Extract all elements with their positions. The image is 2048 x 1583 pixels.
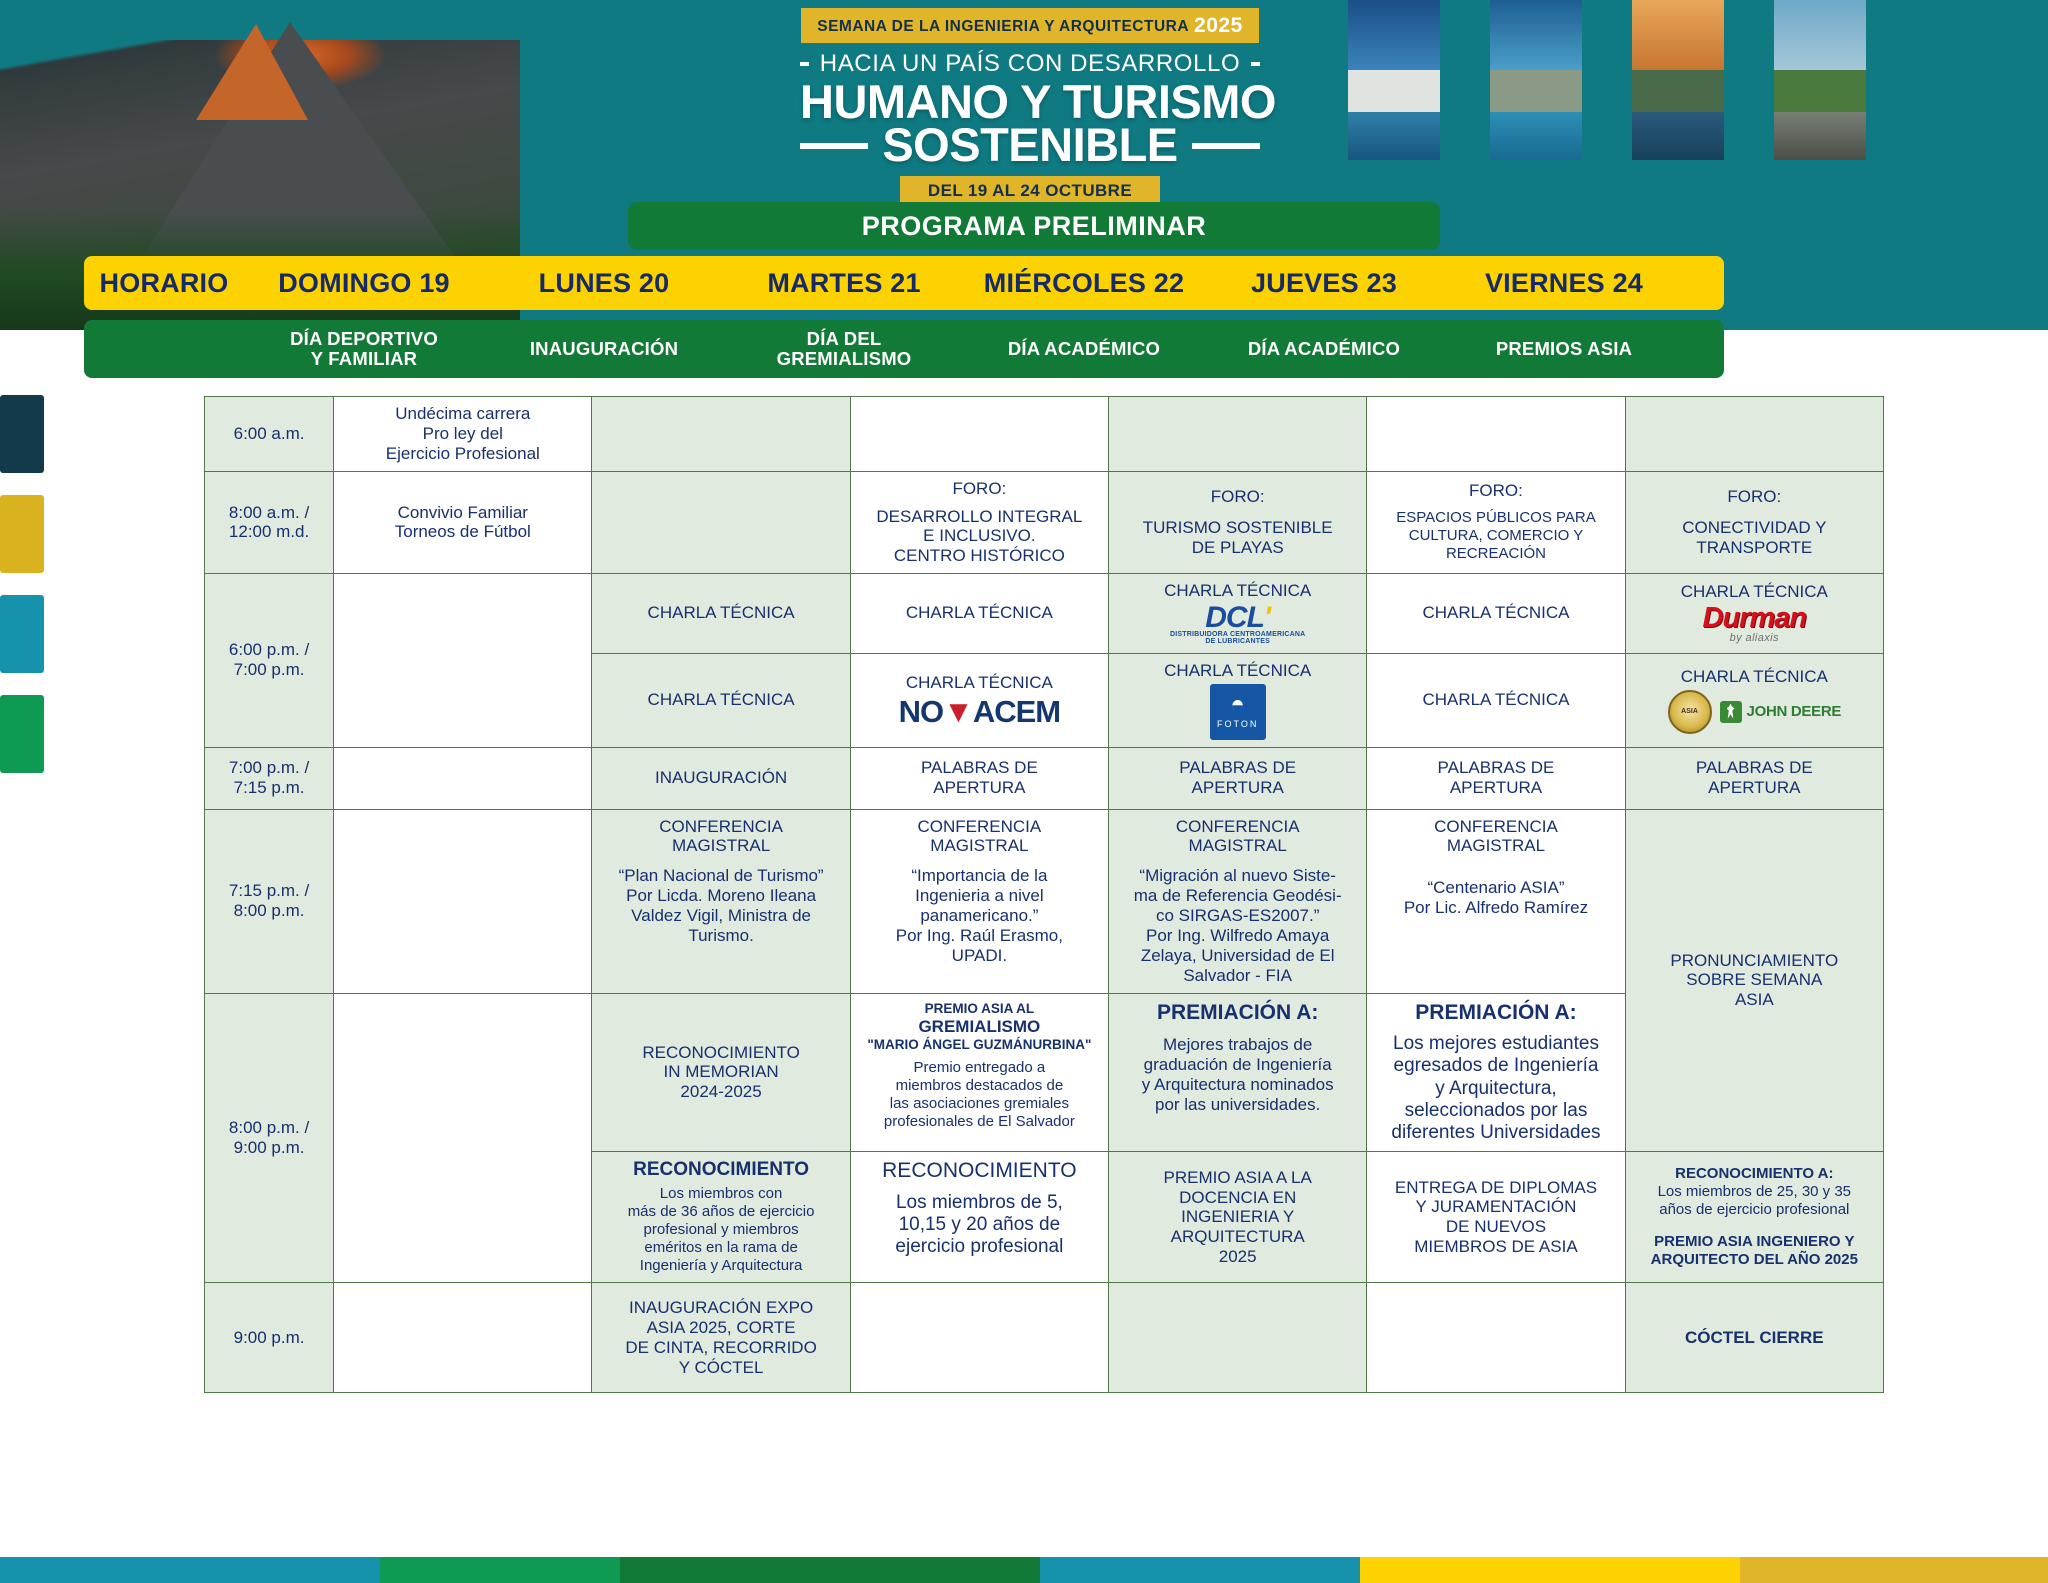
time-cell-8am: 8:00 a.m. / 12:00 m.d. xyxy=(205,471,334,574)
cell-jue-charla-1: CHARLA TÉCNICA xyxy=(1367,574,1625,654)
premiacion-head-jue: PREMIACIÓN A: xyxy=(1372,1001,1619,1026)
cell-mar-foro: FORO: DESARROLLO INTEGRAL E INCLUSIVO. C… xyxy=(850,471,1108,574)
table-row: 9:00 p.m. INAUGURACIÓN EXPO ASIA 2025, C… xyxy=(205,1283,1884,1393)
foro-lead-vie: FORO: xyxy=(1631,487,1878,507)
cell-lun-inauguracion: INAUGURACIÓN xyxy=(592,747,850,809)
cell-jue-entrega-diplomas: ENTREGA DE DIPLOMAS Y JURAMENTACIÓN DE N… xyxy=(1367,1152,1625,1283)
title-line-2-row: SOSTENIBLE xyxy=(800,123,1260,168)
time-cell-7pm: 7:00 p.m. / 7:15 p.m. xyxy=(205,747,334,809)
header-miercoles: MIÉRCOLES 22 xyxy=(964,268,1204,299)
john-deere-logo: JOHN DEERE xyxy=(1720,701,1842,723)
cell-jue-conferencia: CONFERENCIA MAGISTRAL “Centenario ASIA” … xyxy=(1367,809,1625,993)
cell-dom-empty-5 xyxy=(334,809,592,993)
cell-lun-charla-1: CHARLA TÉCNICA xyxy=(592,574,850,654)
charla-label-mar-2: CHARLA TÉCNICA xyxy=(856,673,1103,693)
foro-body-mie: TURISMO SOSTENIBLE DE PLAYAS xyxy=(1114,518,1361,558)
schedule-table: 6:00 a.m. Undécima carrera Pro ley del E… xyxy=(204,396,1884,1393)
thumbnail-photo-pier xyxy=(1490,0,1582,160)
tagline-dash-right xyxy=(1251,62,1260,66)
cell-dom-empty-3 xyxy=(334,574,592,747)
john-deere-wordmark: JOHN DEERE xyxy=(1747,703,1842,721)
cell-lun-inauguracion-expo: INAUGURACIÓN EXPO ASIA 2025, CORTE DE CI… xyxy=(592,1283,850,1393)
color-chip-strip xyxy=(0,395,44,795)
year-label: 2025 xyxy=(1194,14,1243,37)
asia-seal-logo: ASIA xyxy=(1668,690,1712,734)
dcl-tagline: DISTRIBUIDORA CENTROAMERICANADE LUBRICAN… xyxy=(1170,631,1305,646)
color-chip-3 xyxy=(0,595,44,673)
tagline-dash-left xyxy=(800,62,809,66)
theme-lunes: INAUGURACIÓN xyxy=(484,339,724,359)
title-dash-right xyxy=(1192,143,1260,149)
foton-logo: ◓ FOTON xyxy=(1114,684,1361,740)
cell-lun-reconocimiento-memorian: RECONOCIMIENTO IN MEMORIAN 2024-2025 xyxy=(592,993,850,1152)
time-cell-6pm: 6:00 p.m. / 7:00 p.m. xyxy=(205,574,334,747)
thumbnail-photo-palace xyxy=(1348,0,1440,160)
cell-dom-convivio: Convivio Familiar Torneos de Fútbol xyxy=(334,471,592,574)
table-row: 8:00 a.m. / 12:00 m.d. Convivio Familiar… xyxy=(205,471,1884,574)
conf-head-mie: CONFERENCIA MAGISTRAL xyxy=(1114,817,1361,857)
foro-lead-jue: FORO: xyxy=(1372,481,1619,501)
recon-body-mar: Los miembros de 5, 10,15 y 20 años de ej… xyxy=(856,1192,1103,1259)
thumbnail-photo-lake xyxy=(1632,0,1724,160)
conf-body-jue: “Centenario ASIA” Por Lic. Alfredo Ramír… xyxy=(1372,878,1619,918)
cell-mar-conferencia: CONFERENCIA MAGISTRAL “Importancia de la… xyxy=(850,809,1108,993)
time-cell-6am: 6:00 a.m. xyxy=(205,397,334,472)
novacem-logo: NO▼ACEM xyxy=(856,696,1103,727)
recon-body-vie: Los miembros de 25, 30 y 35 años de ejer… xyxy=(1631,1183,1878,1219)
cell-mar-charla-2: CHARLA TÉCNICA NO▼ACEM xyxy=(850,653,1108,747)
dcl-wordmark: DCL' xyxy=(1170,604,1305,631)
cell-dom-empty-7 xyxy=(334,1283,592,1393)
conf-body-mie: “Migración al nuevo Siste- ma de Referen… xyxy=(1114,866,1361,985)
vie-logo-group: ASIA JOHN DEERE xyxy=(1631,690,1878,734)
premio-body-mar: Premio entregado a miembros destacados d… xyxy=(856,1059,1103,1131)
stripe-seg-6 xyxy=(1740,1557,2048,1583)
header-domingo: DOMINGO 19 xyxy=(244,268,484,299)
recon-head-vie: RECONOCIMIENTO A: xyxy=(1631,1165,1878,1183)
cell-vie-reconocimiento: RECONOCIMIENTO A: Los miembros de 25, 30… xyxy=(1625,1152,1883,1283)
theme-viernes: PREMIOS ASIA xyxy=(1444,339,1684,359)
premio-line2-mar: GREMIALISMO xyxy=(856,1017,1103,1037)
table-row: 6:00 a.m. Undécima carrera Pro ley del E… xyxy=(205,397,1884,472)
foro-body-jue: ESPACIOS PÚBLICOS PARA CULTURA, COMERCIO… xyxy=(1372,509,1619,563)
cell-mar-apertura: PALABRAS DE APERTURA xyxy=(850,747,1108,809)
conf-head-jue: CONFERENCIA MAGISTRAL xyxy=(1372,817,1619,857)
charla-label-mie-2: CHARLA TÉCNICA xyxy=(1114,661,1361,681)
cell-mar-empty-1 xyxy=(850,397,1108,472)
theme-miercoles: DÍA ACADÉMICO xyxy=(964,339,1204,359)
cell-mar-reconocimiento-2: RECONOCIMIENTO Los miembros de 5, 10,15 … xyxy=(850,1152,1108,1283)
cell-mar-charla-1: CHARLA TÉCNICA xyxy=(850,574,1108,654)
cell-jue-empty-7 xyxy=(1367,1283,1625,1393)
cell-jue-charla-2: CHARLA TÉCNICA xyxy=(1367,653,1625,747)
premiacion-head-mie: PREMIACIÓN A: xyxy=(1114,1001,1361,1026)
cell-mie-conferencia: CONFERENCIA MAGISTRAL “Migración al nuev… xyxy=(1109,809,1367,993)
conf-body-lun: “Plan Nacional de Turismo” Por Licda. Mo… xyxy=(597,866,844,946)
color-chip-1 xyxy=(0,395,44,473)
table-row: 7:15 p.m. / 8:00 p.m. CONFERENCIA MAGIST… xyxy=(205,809,1884,993)
semana-label: SEMANA DE LA INGENIERIA Y ARQUITECTURA xyxy=(817,18,1189,35)
time-cell-715pm: 7:15 p.m. / 8:00 p.m. xyxy=(205,809,334,993)
recon-body-lun: Los miembros con más de 36 años de ejerc… xyxy=(597,1185,844,1275)
header-horario: HORARIO xyxy=(84,268,244,299)
header-jueves: JUEVES 23 xyxy=(1204,268,1444,299)
novacem-wordmark: NO▼ACEM xyxy=(899,696,1060,727)
premio-line1-mar: PREMIO ASIA AL xyxy=(856,1001,1103,1017)
premio-line3-mar: "MARIO ÁNGEL GUZMÁNURBINA" xyxy=(856,1037,1103,1053)
conf-head-lun: CONFERENCIA MAGISTRAL xyxy=(597,817,844,857)
semana-badge: SEMANA DE LA INGENIERIA Y ARQUITECTURA20… xyxy=(801,8,1259,43)
cell-mar-premio-gremialismo: PREMIO ASIA AL GREMIALISMO "MARIO ÁNGEL … xyxy=(850,993,1108,1152)
volcano-sunlit-peak-shape xyxy=(196,24,308,120)
time-cell-9pm: 9:00 p.m. xyxy=(205,1283,334,1393)
programa-preliminar-tab: PROGRAMA PRELIMINAR xyxy=(628,202,1440,250)
foro-lead-mie: FORO: xyxy=(1114,487,1361,507)
cell-vie-empty-1 xyxy=(1625,397,1883,472)
cell-mie-foro: FORO: TURISMO SOSTENIBLE DE PLAYAS xyxy=(1109,471,1367,574)
charla-label-vie-2: CHARLA TÉCNICA xyxy=(1631,667,1878,687)
cell-mie-apertura: PALABRAS DE APERTURA xyxy=(1109,747,1367,809)
color-chip-4 xyxy=(0,695,44,773)
cell-vie-coctel-cierre: CÓCTEL CIERRE xyxy=(1625,1283,1883,1393)
cell-lun-reconocimiento-2: RECONOCIMIENTO Los miembros con más de 3… xyxy=(592,1152,850,1283)
premiacion-body-mie: Mejores trabajos de graduación de Ingeni… xyxy=(1114,1035,1361,1115)
foro-lead-mar: FORO: xyxy=(856,479,1103,499)
recon-head-lun: RECONOCIMIENTO xyxy=(597,1159,844,1181)
cell-jue-foro: FORO: ESPACIOS PÚBLICOS PARA CULTURA, CO… xyxy=(1367,471,1625,574)
table-row: 7:00 p.m. / 7:15 p.m. INAUGURACIÓN PALAB… xyxy=(205,747,1884,809)
foro-body-mar: DESARROLLO INTEGRAL E INCLUSIVO. CENTRO … xyxy=(856,507,1103,567)
event-title-block: SEMANA DE LA INGENIERIA Y ARQUITECTURA20… xyxy=(800,8,1260,205)
cell-lun-empty-2 xyxy=(592,471,850,574)
cell-mie-premiacion: PREMIACIÓN A: Mejores trabajos de gradua… xyxy=(1109,993,1367,1152)
stripe-seg-5 xyxy=(1360,1557,1740,1583)
title-line-2: SOSTENIBLE xyxy=(882,123,1177,168)
charla-label-mie-1: CHARLA TÉCNICA xyxy=(1114,581,1361,601)
thumbnail-photo-highway xyxy=(1774,0,1866,160)
cell-lun-empty-1 xyxy=(592,397,850,472)
cell-lun-conferencia: CONFERENCIA MAGISTRAL “Plan Nacional de … xyxy=(592,809,850,993)
tagline-text: HACIA UN PAÍS CON DESARROLLO xyxy=(820,50,1240,78)
recon-head-mar: RECONOCIMIENTO xyxy=(856,1159,1103,1184)
conf-head-mar: CONFERENCIA MAGISTRAL xyxy=(856,817,1103,857)
cell-vie-foro: FORO: CONECTIVIDAD Y TRANSPORTE xyxy=(1625,471,1883,574)
foton-badge: ◓ FOTON xyxy=(1210,684,1266,740)
day-header-row: HORARIO DOMINGO 19 LUNES 20 MARTES 21 MI… xyxy=(84,256,1724,310)
charla-label-vie-1: CHARLA TÉCNICA xyxy=(1631,582,1878,602)
table-row: 6:00 p.m. / 7:00 p.m. CHARLA TÉCNICA CHA… xyxy=(205,574,1884,654)
stripe-seg-2 xyxy=(380,1557,620,1583)
durman-logo: Durman by aliaxis xyxy=(1631,605,1878,645)
cell-jue-apertura: PALABRAS DE APERTURA xyxy=(1367,747,1625,809)
cell-mie-empty-7 xyxy=(1109,1283,1367,1393)
cell-jue-empty-1 xyxy=(1367,397,1625,472)
foro-body-vie: CONECTIVIDAD Y TRANSPORTE xyxy=(1631,518,1878,558)
cell-vie-charla-1: CHARLA TÉCNICA Durman by aliaxis xyxy=(1625,574,1883,654)
header-viernes: VIERNES 24 xyxy=(1444,268,1684,299)
cell-mar-empty-7 xyxy=(850,1283,1108,1393)
time-cell-8pm: 8:00 p.m. / 9:00 p.m. xyxy=(205,993,334,1283)
john-deere-deer-icon xyxy=(1720,701,1742,723)
color-chip-2 xyxy=(0,495,44,573)
date-badge: DEL 19 AL 24 OCTUBRE xyxy=(900,176,1160,205)
theme-domingo: DÍA DEPORTIVO Y FAMILIAR xyxy=(244,329,484,368)
cell-mie-premio-docencia: PREMIO ASIA A LA DOCENCIA EN INGENIERIA … xyxy=(1109,1152,1367,1283)
foton-wordmark: FOTON xyxy=(1217,719,1258,730)
theme-jueves: DÍA ACADÉMICO xyxy=(1204,339,1444,359)
header-martes: MARTES 21 xyxy=(724,268,964,299)
day-theme-row: DÍA DEPORTIVO Y FAMILIAR INAUGURACIÓN DÍ… xyxy=(84,320,1724,378)
tagline-row: HACIA UN PAÍS CON DESARROLLO xyxy=(800,50,1260,78)
conf-body-mar: “Importancia de la Ingenieria a nivel pa… xyxy=(856,866,1103,965)
title-dash-left xyxy=(800,143,868,149)
cell-mie-empty-1 xyxy=(1109,397,1367,472)
dcl-logo: DCL' DISTRIBUIDORA CENTROAMERICANADE LUB… xyxy=(1114,604,1361,646)
stripe-seg-4 xyxy=(1040,1557,1360,1583)
cell-dom-empty-6 xyxy=(334,993,592,1283)
theme-martes: DÍA DEL GREMIALISMO xyxy=(724,329,964,368)
cell-vie-pronunciamiento: PRONUNCIAMIENTO SOBRE SEMANA ASIA xyxy=(1625,809,1883,1152)
cell-jue-premiacion: PREMIACIÓN A: Los mejores estudiantes eg… xyxy=(1367,993,1625,1152)
cell-dom-carrera: Undécima carrera Pro ley del Ejercicio P… xyxy=(334,397,592,472)
cell-dom-empty-4 xyxy=(334,747,592,809)
cell-vie-charla-2: CHARLA TÉCNICA ASIA JOHN DEERE xyxy=(1625,653,1883,747)
cell-vie-apertura: PALABRAS DE APERTURA xyxy=(1625,747,1883,809)
cell-lun-charla-2: CHARLA TÉCNICA xyxy=(592,653,850,747)
header-lunes: LUNES 20 xyxy=(484,268,724,299)
stripe-seg-1 xyxy=(0,1557,380,1583)
premiacion-body-jue: Los mejores estudiantes egresados de Ing… xyxy=(1372,1033,1619,1144)
stripe-seg-3 xyxy=(620,1557,1040,1583)
cell-mie-charla-1: CHARLA TÉCNICA DCL' DISTRIBUIDORA CENTRO… xyxy=(1109,574,1367,654)
title-line-1: HUMANO Y TURISMO xyxy=(800,80,1260,123)
bottom-color-stripe xyxy=(0,1557,2048,1583)
foton-symbol: ◓ xyxy=(1230,693,1245,717)
cell-mie-charla-2: CHARLA TÉCNICA ◓ FOTON xyxy=(1109,653,1367,747)
recon-foot-vie: PREMIO ASIA INGENIERO Y ARQUITECTO DEL A… xyxy=(1631,1233,1878,1269)
durman-wordmark: Durman xyxy=(1703,605,1807,632)
